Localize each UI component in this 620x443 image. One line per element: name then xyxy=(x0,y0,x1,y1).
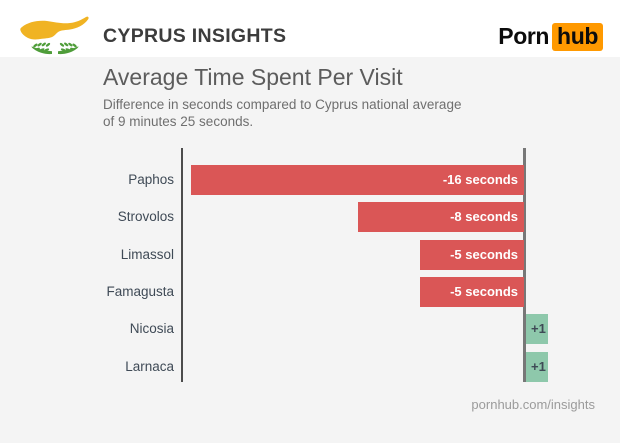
row-label-limassol: Limassol xyxy=(0,240,174,270)
chart-row: Paphos-16 seconds xyxy=(0,165,620,195)
bar-chart: Paphos-16 secondsStrovolos-8 secondsLima… xyxy=(0,150,620,395)
bar-value-strovolos: -8 seconds xyxy=(450,202,518,232)
bar-strovolos: -8 seconds xyxy=(358,202,524,232)
row-label-nicosia: Nicosia xyxy=(0,314,174,344)
title-block: Average Time Spent Per Visit Difference … xyxy=(103,64,533,130)
bar-nicosia: +1 xyxy=(526,314,548,344)
footer-url: pornhub.com/insights xyxy=(471,397,595,412)
bar-paphos: -16 seconds xyxy=(191,165,524,195)
chart-row: Famagusta-5 seconds xyxy=(0,277,620,307)
chart-subtitle: Difference in seconds compared to Cyprus… xyxy=(103,97,473,130)
chart-title: Average Time Spent Per Visit xyxy=(103,64,533,91)
bar-larnaca: +1 xyxy=(526,352,548,382)
cyprus-flag-icon xyxy=(18,14,92,58)
row-label-strovolos: Strovolos xyxy=(0,202,174,232)
bar-famagusta: -5 seconds xyxy=(420,277,524,307)
bar-value-larnaca: +1 xyxy=(531,352,546,382)
chart-row: Larnaca+1 xyxy=(0,352,620,382)
bar-value-nicosia: +1 xyxy=(531,314,546,344)
pornhub-logo-porn: Porn xyxy=(498,24,549,49)
bar-value-limassol: -5 seconds xyxy=(450,240,518,270)
pornhub-logo-hub: hub xyxy=(552,23,603,51)
row-label-larnaca: Larnaca xyxy=(0,352,174,382)
chart-row: Nicosia+1 xyxy=(0,314,620,344)
brand-title: CYPRUS INSIGHTS xyxy=(103,25,286,48)
row-label-famagusta: Famagusta xyxy=(0,277,174,307)
bar-value-paphos: -16 seconds xyxy=(443,165,518,195)
page-header: CYPRUS INSIGHTS Porn hub xyxy=(0,0,620,57)
bar-limassol: -5 seconds xyxy=(420,240,524,270)
chart-row: Strovolos-8 seconds xyxy=(0,202,620,232)
row-label-paphos: Paphos xyxy=(0,165,174,195)
pornhub-logo: Porn hub xyxy=(498,24,603,49)
chart-row: Limassol-5 seconds xyxy=(0,240,620,270)
bar-value-famagusta: -5 seconds xyxy=(450,277,518,307)
